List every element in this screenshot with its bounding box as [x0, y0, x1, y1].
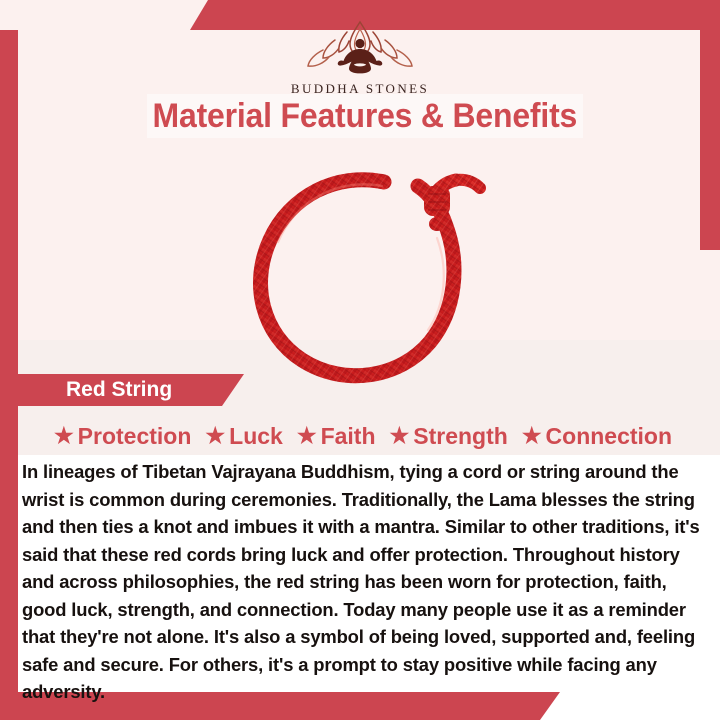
benefit-label: Connection: [546, 423, 673, 450]
decor-red-left-bar: [0, 30, 18, 720]
lotus-meditation-icon: [300, 18, 420, 80]
benefit-label: Faith: [321, 423, 376, 450]
benefit-item: ★ Faith: [290, 423, 383, 450]
benefit-label: Luck: [229, 423, 283, 450]
benefits-row: ★ Protection ★ Luck ★ Faith ★ Strength ★…: [18, 420, 708, 452]
star-icon: ★: [205, 425, 225, 447]
benefit-label: Protection: [78, 423, 192, 450]
benefit-item: ★ Luck: [198, 423, 289, 450]
star-icon: ★: [522, 425, 542, 447]
star-icon: ★: [297, 425, 317, 447]
star-icon: ★: [390, 425, 410, 447]
infographic-card: BUDDHA STONES Material Features & Benefi…: [0, 0, 720, 720]
benefit-item: ★ Protection: [47, 423, 198, 450]
title-banner: Material Features & Benefits: [147, 94, 583, 138]
material-label: Red String: [18, 378, 172, 402]
page-title: Material Features & Benefits: [153, 97, 578, 136]
description-text: In lineages of Tibetan Vajrayana Buddhis…: [22, 458, 700, 706]
benefit-item: ★ Connection: [515, 423, 679, 450]
star-icon: ★: [54, 425, 74, 447]
product-image-red-string-bracelet: [232, 158, 496, 390]
material-label-banner: Red String: [18, 374, 244, 406]
brand-logo: BUDDHA STONES: [0, 18, 720, 97]
benefit-item: ★ Strength: [383, 423, 515, 450]
benefit-label: Strength: [413, 423, 508, 450]
